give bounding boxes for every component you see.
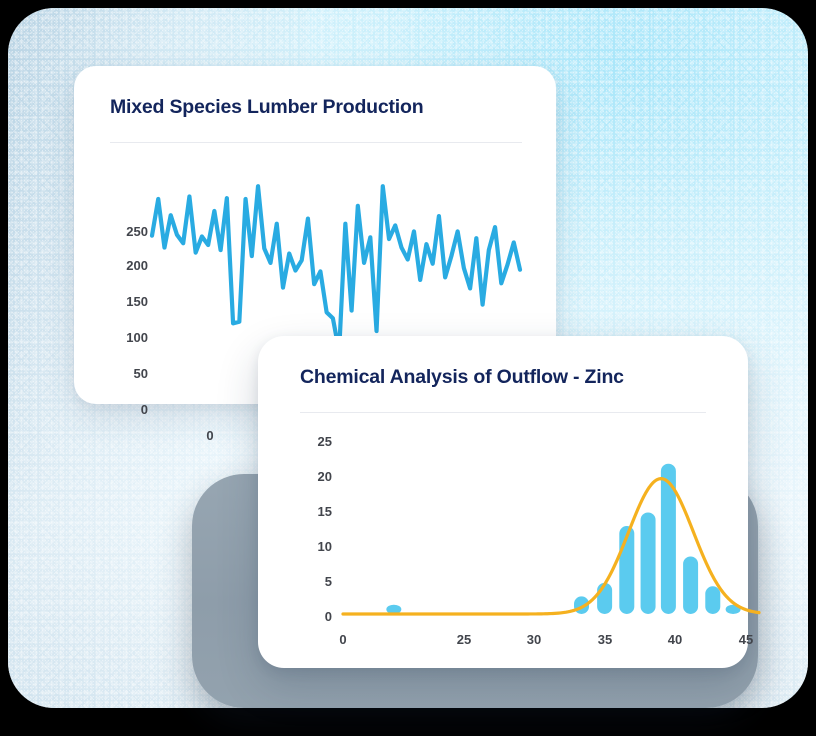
- hist-y-tick-0: 0: [290, 609, 332, 624]
- histogram-bars: [386, 464, 740, 614]
- histogram-bar: [705, 586, 720, 614]
- line-series-lumber: [152, 186, 520, 351]
- hist-y-tick-5: 5: [290, 574, 332, 589]
- title-divider-zinc: [300, 412, 706, 413]
- histogram-bar: [597, 583, 612, 614]
- histogram-svg: [343, 438, 759, 630]
- hist-y-tick-15: 15: [290, 504, 332, 519]
- x-tick-0: 0: [198, 428, 222, 443]
- histogram-bar: [641, 512, 656, 614]
- hist-x-tick-40: 40: [660, 632, 690, 647]
- histogram-plot: 25 20 15 10 5 0 0 25 30 35 40 45: [294, 434, 724, 644]
- hist-y-tick-25: 25: [290, 434, 332, 449]
- y-tick-150: 150: [100, 294, 148, 309]
- y-tick-0: 0: [100, 402, 148, 417]
- hist-x-tick-0: 0: [332, 632, 354, 647]
- hist-x-tick-30: 30: [519, 632, 549, 647]
- page-title-zinc: Chemical Analysis of Outflow - Zinc: [300, 366, 624, 388]
- screenshot-stage: Mixed Species Lumber Production 250 200 …: [0, 0, 816, 736]
- hist-y-tick-10: 10: [290, 539, 332, 554]
- card-chemical-analysis-outflow-zinc[interactable]: Chemical Analysis of Outflow - Zinc 25 2…: [258, 336, 748, 668]
- hist-x-tick-45: 45: [731, 632, 761, 647]
- y-tick-200: 200: [100, 258, 148, 273]
- y-tick-100: 100: [100, 330, 148, 345]
- histogram-bar: [683, 556, 698, 614]
- y-tick-50: 50: [100, 366, 148, 381]
- title-divider-lumber: [110, 142, 522, 143]
- hist-y-tick-20: 20: [290, 469, 332, 484]
- hist-x-tick-35: 35: [590, 632, 620, 647]
- hist-x-tick-25: 25: [449, 632, 479, 647]
- y-tick-250: 250: [100, 224, 148, 239]
- page-title-lumber: Mixed Species Lumber Production: [110, 96, 423, 118]
